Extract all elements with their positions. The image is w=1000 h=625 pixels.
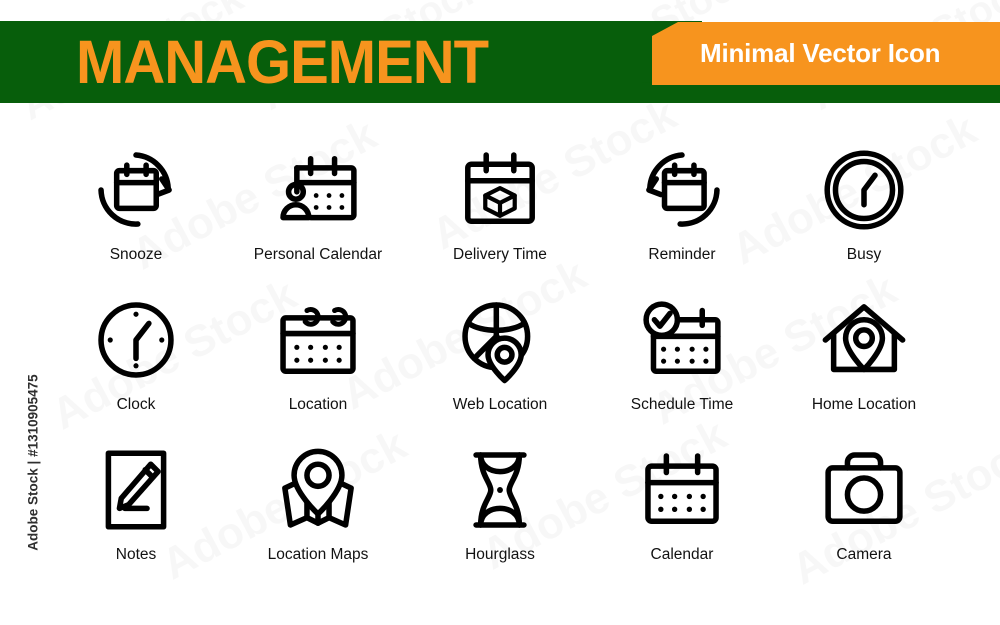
- globe-pin-icon: [450, 290, 550, 390]
- icon-label: Snooze: [110, 246, 163, 264]
- icon-cell-home-location[interactable]: Home Location: [773, 290, 955, 440]
- icon-label: Location Maps: [268, 546, 369, 564]
- icon-label: Hourglass: [465, 546, 535, 564]
- icon-cell-hourglass[interactable]: Hourglass: [409, 440, 591, 590]
- icon-label: Delivery Time: [453, 246, 547, 264]
- icon-label: Busy: [847, 246, 881, 264]
- icon-cell-busy[interactable]: Busy: [773, 140, 955, 290]
- poster-header: MANAGEMENT Minimal Vector Icon: [0, 0, 1000, 112]
- icon-label: Personal Calendar: [254, 246, 382, 264]
- icon-label: Location: [289, 396, 348, 414]
- clock-icon: [86, 290, 186, 390]
- clock-double-circle-icon: [814, 140, 914, 240]
- icon-cell-schedule-time[interactable]: Schedule Time: [591, 290, 773, 440]
- calendar-rotate-ccw-icon: [632, 140, 732, 240]
- calendar-box-icon: [450, 140, 550, 240]
- calendar-person-icon: [268, 140, 368, 240]
- icon-cell-clock[interactable]: Clock: [45, 290, 227, 440]
- stock-credit-label: Adobe Stock | #1310905475: [26, 338, 41, 588]
- icon-grid: Snooze Personal Calen: [45, 140, 955, 610]
- icon-cell-location[interactable]: Location: [227, 290, 409, 440]
- icon-label: Home Location: [812, 396, 916, 414]
- poster-canvas: Adobe Stock Adobe Stock Adobe Stock Adob…: [0, 0, 1000, 625]
- map-pin-icon: [268, 440, 368, 540]
- icon-cell-reminder[interactable]: Reminder: [591, 140, 773, 290]
- header-tab-label: Minimal Vector Icon: [652, 38, 940, 69]
- icon-cell-camera[interactable]: Camera: [773, 440, 955, 590]
- camera-icon: [814, 440, 914, 540]
- icon-label: Camera: [836, 546, 891, 564]
- icon-cell-notes[interactable]: Notes: [45, 440, 227, 590]
- icon-label: Schedule Time: [631, 396, 734, 414]
- icon-label: Reminder: [648, 246, 715, 264]
- icon-cell-location-maps[interactable]: Location Maps: [227, 440, 409, 590]
- calendar-rings-icon: [268, 290, 368, 390]
- calendar-rotate-cw-icon: [86, 140, 186, 240]
- icon-label: Notes: [116, 546, 157, 564]
- note-pencil-icon: [86, 440, 186, 540]
- calendar-icon: [632, 440, 732, 540]
- calendar-check-icon: [632, 290, 732, 390]
- icon-cell-calendar[interactable]: Calendar: [591, 440, 773, 590]
- icon-label: Clock: [117, 396, 156, 414]
- page-title: MANAGEMENT: [76, 20, 488, 105]
- icon-cell-delivery-time[interactable]: Delivery Time: [409, 140, 591, 290]
- hourglass-icon: [450, 440, 550, 540]
- icon-cell-personal-calendar[interactable]: Personal Calendar: [227, 140, 409, 290]
- icon-cell-web-location[interactable]: Web Location: [409, 290, 591, 440]
- header-orange-tab: Minimal Vector Icon: [652, 22, 1000, 85]
- house-pin-icon: [814, 290, 914, 390]
- icon-label: Calendar: [651, 546, 714, 564]
- icon-cell-snooze[interactable]: Snooze: [45, 140, 227, 290]
- icon-label: Web Location: [453, 396, 548, 414]
